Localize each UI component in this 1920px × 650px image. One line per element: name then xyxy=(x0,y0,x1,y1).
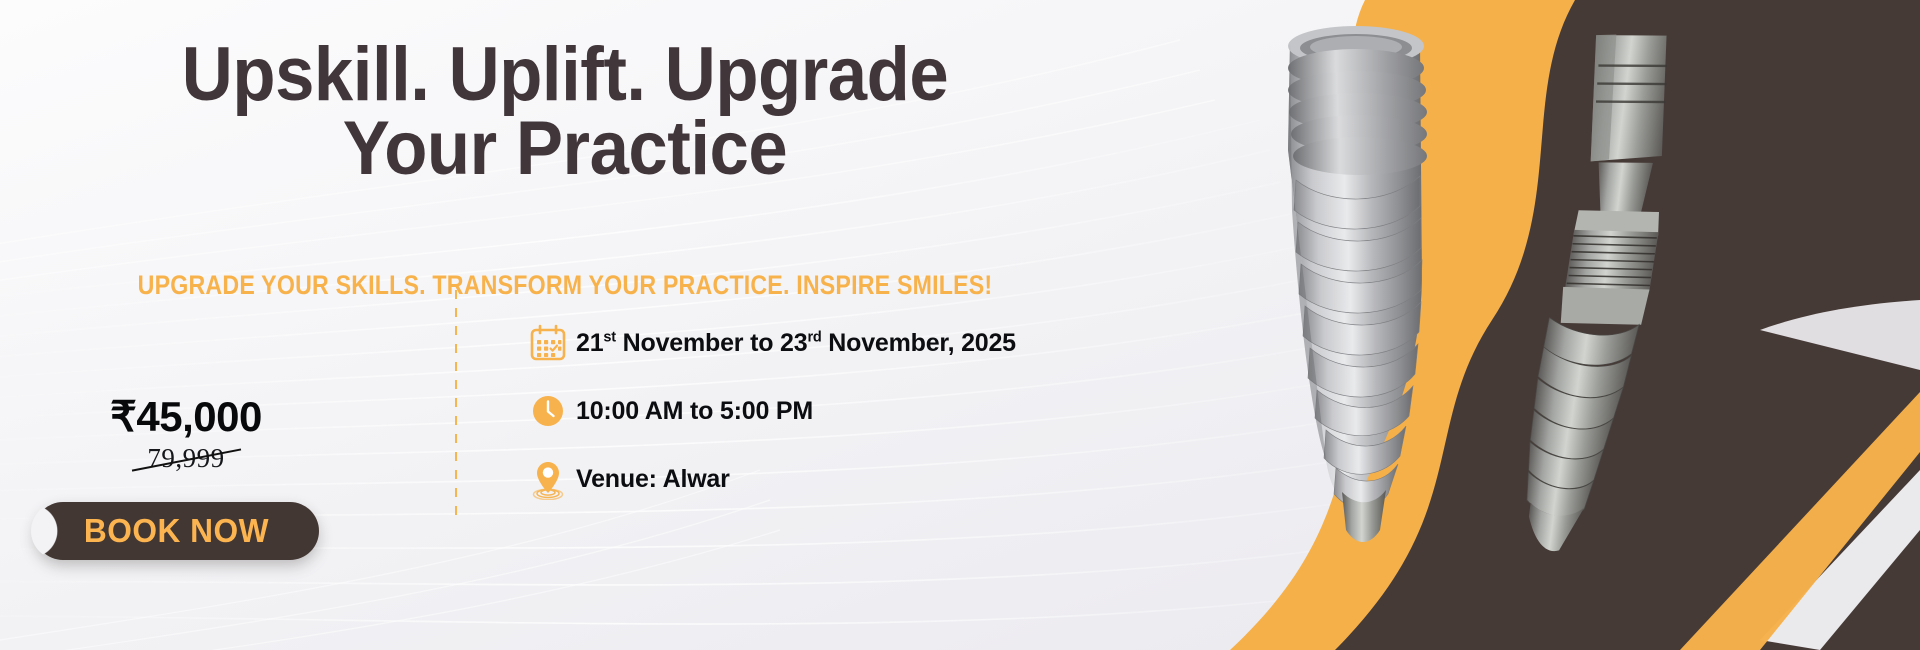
event-venue-text: Venue: Alwar xyxy=(576,465,730,494)
dashed-divider xyxy=(455,290,457,520)
event-detail-date: 21st November to 23rd November, 2025 xyxy=(520,314,1140,372)
headline-line-1: Upskill. Uplift. Upgrade xyxy=(182,32,948,117)
promo-banner: Upskill. Uplift. Upgrade Your Practice U… xyxy=(0,0,1920,650)
clock-icon xyxy=(520,391,576,431)
implant-artwork xyxy=(1120,0,1920,650)
event-date-text: 21st November to 23rd November, 2025 xyxy=(576,329,1016,358)
location-pin-icon xyxy=(520,458,576,500)
page-title: Upskill. Uplift. Upgrade Your Practice xyxy=(95,38,1034,187)
calendar-icon xyxy=(520,323,576,363)
event-detail-venue: Venue: Alwar xyxy=(520,450,1140,508)
banner-content: Upskill. Uplift. Upgrade Your Practice U… xyxy=(0,0,1200,650)
book-now-label: BOOK NOW xyxy=(84,512,269,550)
event-detail-time: 10:00 AM to 5:00 PM xyxy=(520,382,1140,440)
banner-subtitle: UPGRADE YOUR SKILLS. TRANSFORM YOUR PRAC… xyxy=(131,270,1000,301)
current-price: ₹45,000 xyxy=(56,392,316,441)
original-price: 79,999 xyxy=(147,443,224,474)
headline-line-2: Your Practice xyxy=(95,112,1034,186)
event-time-text: 10:00 AM to 5:00 PM xyxy=(576,397,813,426)
book-now-button[interactable]: BOOK NOW xyxy=(34,502,319,560)
event-details-list: 21st November to 23rd November, 2025 10:… xyxy=(520,300,1140,510)
pricing-block: ₹45,000 79,999 xyxy=(56,392,396,474)
